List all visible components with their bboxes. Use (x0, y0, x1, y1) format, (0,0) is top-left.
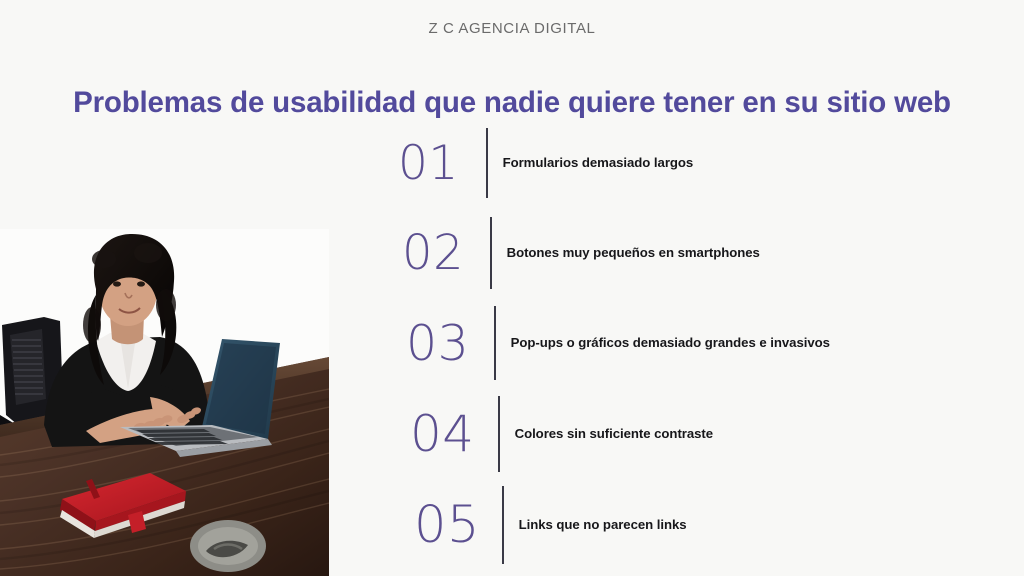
list-item-divider (502, 486, 504, 564)
mouse-pad (190, 520, 266, 572)
photo-woman-typing (0, 229, 329, 576)
list-item-number: 05 (414, 500, 502, 551)
list-item-number: 04 (410, 409, 498, 459)
list-item-number: 02 (402, 229, 490, 277)
list-item-divider (498, 396, 500, 472)
list-item-label: Links que no parecen links (519, 516, 687, 535)
list-item[interactable]: 02 Botones muy pequeños en smartphones (402, 217, 760, 289)
list-item[interactable]: 04 Colores sin suficiente contraste (410, 396, 713, 472)
problem-list: 01 Formularios demasiado largos 02 Boton… (380, 124, 980, 576)
photo-illustration (0, 229, 329, 576)
brand-label: Z C AGENCIA DIGITAL (0, 20, 1024, 37)
slide-canvas: Z C AGENCIA DIGITAL Problemas de usabili… (0, 0, 1024, 576)
list-item-label: Pop-ups o gráficos demasiado grandes e i… (511, 334, 830, 353)
list-item[interactable]: 03 Pop-ups o gráficos demasiado grandes … (406, 306, 830, 380)
list-item-label: Colores sin suficiente contraste (515, 425, 713, 444)
list-item[interactable]: 01 Formularios demasiado largos (398, 128, 693, 198)
list-item-label: Botones muy pequeños en smartphones (507, 244, 760, 263)
list-item-label: Formularios demasiado largos (503, 154, 694, 173)
list-item-divider (494, 306, 496, 380)
list-item-number: 03 (406, 319, 494, 368)
list-item-divider (486, 128, 488, 198)
list-item-number: 01 (398, 140, 486, 187)
list-item-divider (490, 217, 492, 289)
list-item[interactable]: 05 Links que no parecen links (414, 486, 687, 564)
page-title: Problemas de usabilidad que nadie quiere… (0, 86, 1024, 120)
